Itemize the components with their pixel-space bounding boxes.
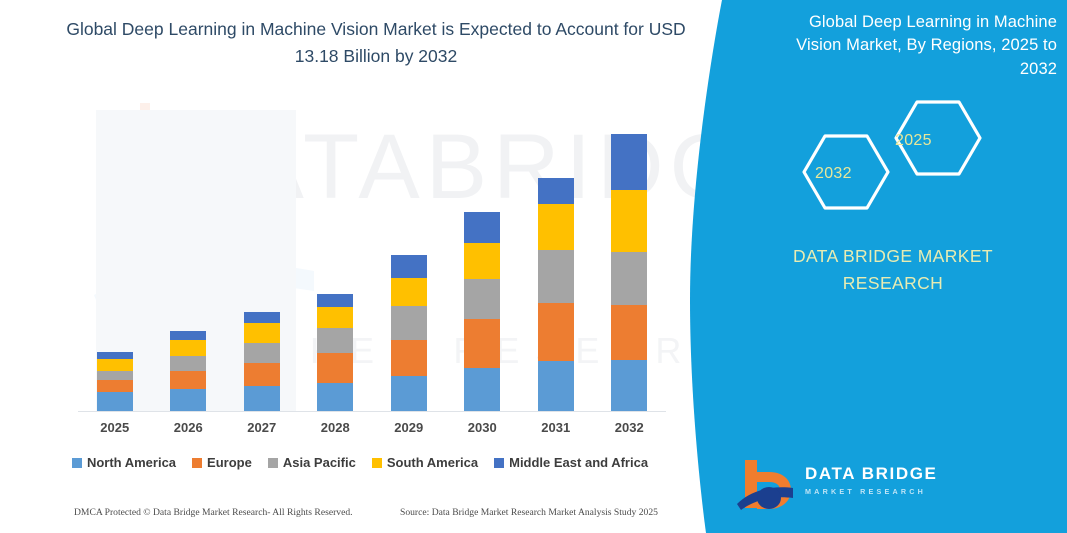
legend-swatch-icon — [494, 458, 504, 468]
legend-label: Asia Pacific — [283, 455, 356, 470]
footer-copyright: DMCA Protected © Data Bridge Market Rese… — [74, 507, 353, 518]
bar-segment-asia-pacific — [391, 306, 427, 340]
x-axis-label-2025: 2025 — [80, 420, 150, 435]
bar-segment-south-america — [97, 359, 133, 371]
bar-segment-asia-pacific — [170, 356, 206, 371]
bar-segment-middle-east-and-africa — [611, 134, 647, 190]
bar-segment-middle-east-and-africa — [391, 255, 427, 278]
bar-2027 — [244, 312, 280, 411]
bar-segment-asia-pacific — [317, 328, 353, 353]
plot-area — [78, 110, 666, 412]
bar-segment-middle-east-and-africa — [538, 178, 574, 204]
bar-segment-asia-pacific — [611, 252, 647, 305]
legend-label: Europe — [207, 455, 252, 470]
bar-segment-europe — [464, 319, 500, 368]
bar-segment-asia-pacific — [538, 250, 574, 303]
bar-segment-south-america — [244, 323, 280, 343]
bar-segment-middle-east-and-africa — [317, 294, 353, 307]
x-axis-line — [78, 411, 666, 412]
bar-2032 — [611, 134, 647, 411]
bar-segment-asia-pacific — [97, 371, 133, 380]
bar-segment-south-america — [538, 204, 574, 250]
legend-swatch-icon — [268, 458, 278, 468]
brand-name-line2: RESEARCH — [719, 270, 1067, 297]
bar-segment-north-america — [391, 376, 427, 411]
bar-segment-middle-east-and-africa — [244, 312, 280, 323]
brand-name: DATA BRIDGE MARKET RESEARCH — [719, 243, 1067, 296]
bar-segment-europe — [391, 340, 427, 376]
bar-segment-asia-pacific — [244, 343, 280, 363]
legend-label: South America — [387, 455, 478, 470]
bar-2028 — [317, 294, 353, 411]
x-axis-label-2029: 2029 — [374, 420, 444, 435]
bar-segment-north-america — [464, 368, 500, 411]
hexagon-shapes-icon — [777, 96, 997, 216]
brand-panel-title: Global Deep Learning in Machine Vision M… — [767, 11, 1057, 81]
bar-segment-north-america — [97, 392, 133, 411]
bar-segment-north-america — [244, 386, 280, 411]
bar-2025 — [97, 352, 133, 411]
x-axis-label-2032: 2032 — [594, 420, 664, 435]
legend-swatch-icon — [72, 458, 82, 468]
bar-segment-europe — [170, 371, 206, 389]
footer: DMCA Protected © Data Bridge Market Rese… — [0, 505, 700, 525]
bar-2031 — [538, 178, 574, 411]
hexagon-badge-2025: 2025 — [895, 132, 932, 150]
footer-source: Source: Data Bridge Market Research Mark… — [400, 507, 658, 518]
bar-2029 — [391, 255, 427, 411]
bar-segment-europe — [97, 380, 133, 392]
legend-label: Middle East and Africa — [509, 455, 648, 470]
x-axis-labels: 20252026202720282029203020312032 — [78, 420, 666, 442]
hexagon-badge-2032: 2032 — [815, 165, 852, 183]
bar-segment-middle-east-and-africa — [170, 331, 206, 340]
logo-title: DATA BRIDGE — [805, 464, 938, 484]
x-axis-label-2031: 2031 — [521, 420, 591, 435]
legend-item-south-america[interactable]: South America — [372, 455, 478, 470]
bar-segment-europe — [244, 363, 280, 386]
bar-segment-south-america — [317, 307, 353, 328]
bar-segment-south-america — [391, 278, 427, 306]
logo-subtitle: MARKET RESEARCH — [805, 487, 938, 496]
legend-swatch-icon — [372, 458, 382, 468]
x-axis-label-2027: 2027 — [227, 420, 297, 435]
legend-item-north-america[interactable]: North America — [72, 455, 176, 470]
hexagon-badges: 2025 2032 — [777, 96, 997, 216]
chart-legend: North AmericaEuropeAsia PacificSouth Ame… — [0, 455, 720, 470]
brand-logo: DATA BRIDGE MARKET RESEARCH — [729, 454, 1059, 516]
legend-item-europe[interactable]: Europe — [192, 455, 252, 470]
bar-segment-north-america — [611, 360, 647, 411]
bar-segment-asia-pacific — [464, 279, 500, 319]
data-bridge-logo-icon — [735, 458, 799, 512]
legend-item-asia-pacific[interactable]: Asia Pacific — [268, 455, 356, 470]
bar-segment-north-america — [538, 361, 574, 411]
brand-name-line1: DATA BRIDGE MARKET — [719, 243, 1067, 270]
x-axis-label-2028: 2028 — [300, 420, 370, 435]
logo-text-block: DATA BRIDGE MARKET RESEARCH — [805, 464, 938, 496]
bar-segment-europe — [611, 305, 647, 360]
bar-segment-middle-east-and-africa — [464, 212, 500, 243]
brand-panel-content: Global Deep Learning in Machine Vision M… — [719, 0, 1067, 533]
bar-2030 — [464, 212, 500, 411]
bar-segment-north-america — [317, 383, 353, 411]
bar-2026 — [170, 331, 206, 411]
page-title: Global Deep Learning in Machine Vision M… — [56, 16, 696, 69]
x-axis-label-2030: 2030 — [447, 420, 517, 435]
legend-label: North America — [87, 455, 176, 470]
bar-segment-south-america — [464, 243, 500, 279]
bar-segment-middle-east-and-africa — [97, 352, 133, 359]
bar-segment-europe — [538, 303, 574, 361]
bar-segment-south-america — [170, 340, 206, 356]
infographic-root: DATABRIDGE MARKET RESEARCH Global Deep L… — [0, 0, 1067, 533]
bar-segment-south-america — [611, 190, 647, 252]
bar-segment-europe — [317, 353, 353, 383]
chart-panel: DATABRIDGE MARKET RESEARCH Global Deep L… — [0, 0, 720, 533]
legend-swatch-icon — [192, 458, 202, 468]
x-axis-label-2026: 2026 — [153, 420, 223, 435]
bar-segment-north-america — [170, 389, 206, 411]
legend-item-middle-east-and-africa[interactable]: Middle East and Africa — [494, 455, 648, 470]
